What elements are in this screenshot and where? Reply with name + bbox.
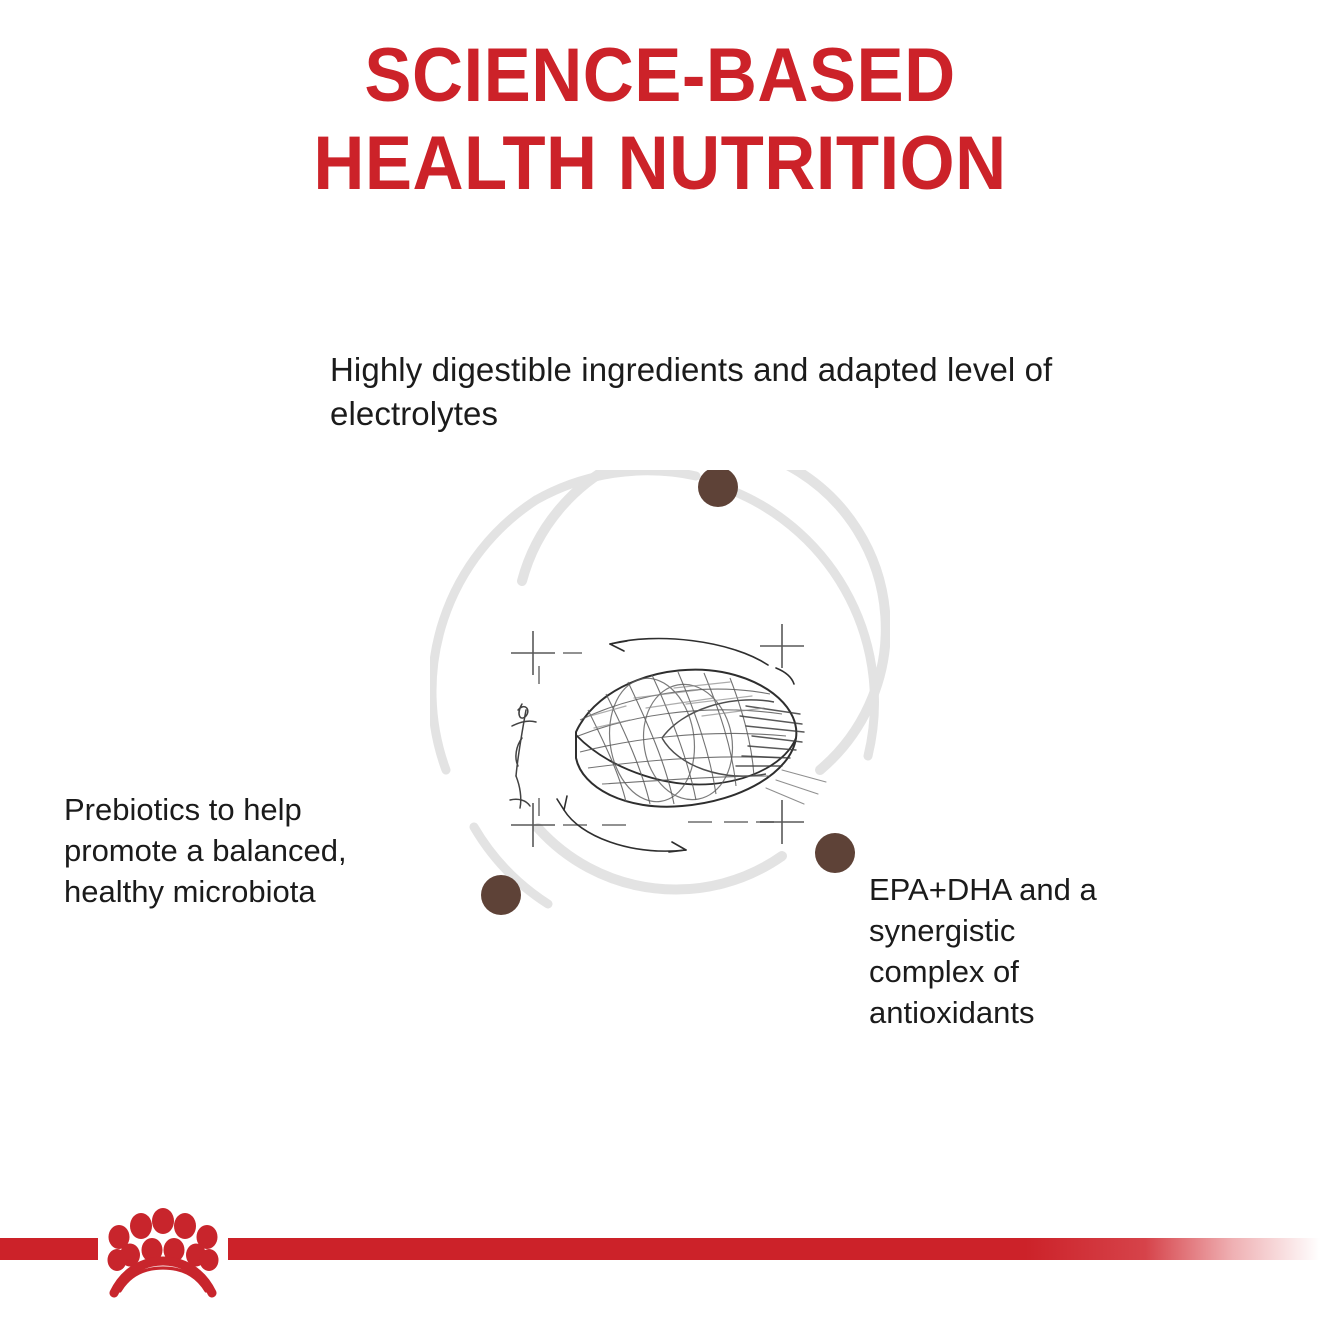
kibble-benefits-orbit-diagram — [430, 470, 890, 930]
page-root: SCIENCE-BASED HEALTH NUTRITION Highly di… — [0, 0, 1320, 1320]
page-title: SCIENCE-BASED HEALTH NUTRITION — [0, 32, 1320, 208]
handwritten-annotation — [510, 704, 536, 808]
brand-bar-right-segment — [228, 1238, 1320, 1260]
callout-text-top: Highly digestible ingredients and adapte… — [330, 348, 1090, 436]
page-title-line-1: SCIENCE-BASED — [46, 32, 1274, 120]
brand-bar-left-segment — [0, 1238, 98, 1260]
kibble-sketch-icon — [510, 624, 826, 852]
orbit-node-left — [481, 875, 521, 915]
page-title-line-2: HEALTH NUTRITION — [46, 120, 1274, 208]
royal-canin-crown-logo — [92, 1208, 234, 1300]
orbit-outer-ring — [432, 471, 874, 904]
orbit-node-right — [815, 833, 855, 873]
callout-text-left: Prebiotics to help promote a balanced, h… — [64, 789, 394, 912]
orbit-node-top — [698, 470, 738, 507]
orbit-inner-ring — [522, 470, 886, 890]
callout-text-right: EPA+DHA and a synergistic complex of ant… — [869, 869, 1139, 1033]
